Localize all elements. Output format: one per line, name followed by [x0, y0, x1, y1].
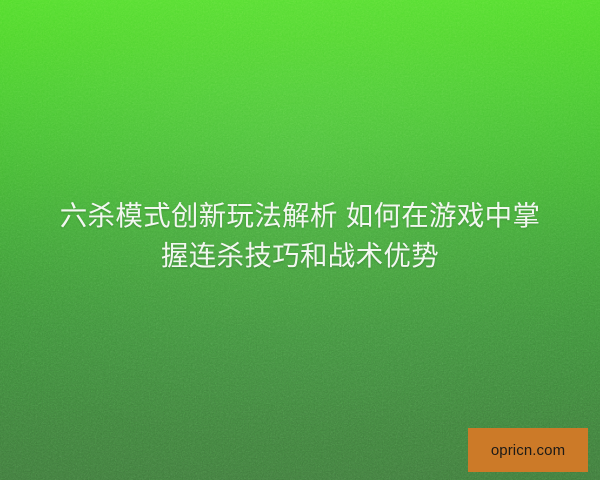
title-line-1: 六杀模式创新玩法解析 如何在游戏中掌 [34, 196, 566, 236]
watermark-badge[interactable]: opricn.com [468, 428, 588, 472]
watermark-label: opricn.com [491, 443, 565, 458]
page-title: 六杀模式创新玩法解析 如何在游戏中掌 握连杀技巧和战术优势 [0, 196, 600, 276]
article-cover-card: 六杀模式创新玩法解析 如何在游戏中掌 握连杀技巧和战术优势 opricn.com [0, 0, 600, 480]
title-line-2: 握连杀技巧和战术优势 [34, 236, 566, 276]
